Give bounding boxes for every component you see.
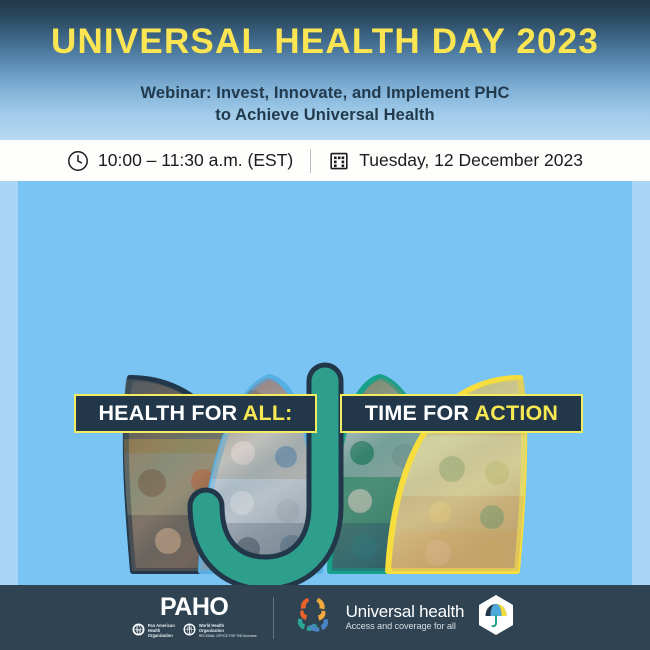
paho-org1-text: Pan American Health Organization: [148, 624, 175, 638]
paho-org1-line3: Organization: [148, 633, 173, 638]
universal-health-tagline: Access and coverage for all: [346, 621, 465, 632]
banner-left-highlight: ALL:: [243, 401, 293, 425]
paho-org-pan-american: Pan American Health Organization: [132, 623, 175, 641]
page-subtitle: Webinar: Invest, Innovate, and Implement…: [0, 82, 650, 126]
hexagon-umbrella-icon: [474, 593, 518, 642]
clock-icon: [67, 150, 89, 172]
poster-footer: PAHO Pan American Health: [0, 585, 650, 650]
poster-header: UNIVERSAL HEALTH DAY 2023 Webinar: Inves…: [0, 0, 650, 140]
banner-right-plain: TIME FOR: [365, 401, 475, 425]
paho-org2-line2: Organization: [199, 628, 224, 633]
subtitle-line-2: to Achieve Universal Health: [0, 104, 650, 126]
banner-left-text: HEALTH FOR ALL:: [98, 401, 292, 426]
poster-body: HEALTH FOR ALL: TIME FOR ACTION: [0, 181, 650, 585]
banner-health-for-all: HEALTH FOR ALL:: [74, 394, 317, 433]
event-time-group: 10:00 – 11:30 a.m. (EST): [67, 150, 293, 172]
event-time-text: 10:00 – 11:30 a.m. (EST): [98, 150, 293, 171]
event-date-group: Tuesday, 12 December 2023: [328, 150, 583, 172]
universal-health-title: Universal health: [346, 603, 465, 621]
calendar-icon: [328, 150, 350, 172]
umbrella-illustration: [0, 181, 650, 585]
banner-right-highlight: ACTION: [475, 401, 559, 425]
banner-left-plain: HEALTH FOR: [98, 401, 242, 425]
banner-right-text: TIME FOR ACTION: [365, 401, 558, 426]
pinwheel-icon: [290, 592, 336, 643]
subtitle-line-1: Webinar: Invest, Innovate, and Implement…: [0, 82, 650, 104]
banner-time-for-action: TIME FOR ACTION: [340, 394, 583, 433]
event-info-bar: 10:00 – 11:30 a.m. (EST) Tuesday, 12 Dec…: [0, 140, 650, 181]
page-title: UNIVERSAL HEALTH DAY 2023: [0, 20, 650, 64]
paho-globe-icon: [132, 623, 145, 641]
paho-logo: PAHO Pan American Health: [132, 595, 257, 641]
universal-health-wordmark: Universal health Access and coverage for…: [346, 603, 465, 632]
paho-acronym: PAHO: [160, 595, 228, 620]
event-date-text: Tuesday, 12 December 2023: [359, 150, 583, 171]
footer-divider: [273, 597, 274, 639]
poster-root: UNIVERSAL HEALTH DAY 2023 Webinar: Inves…: [0, 0, 650, 650]
paho-org-world-health: World Health Organization REGIONAL OFFIC…: [183, 623, 257, 641]
universal-health-logo: Universal health Access and coverage for…: [290, 592, 519, 643]
paho-org2-line3: REGIONAL OFFICE FOR THE Americas: [199, 634, 257, 639]
who-emblem-icon: [183, 623, 196, 641]
info-divider: [310, 149, 311, 173]
paho-org2-text: World Health Organization REGIONAL OFFIC…: [199, 624, 257, 638]
paho-organizations: Pan American Health Organization: [132, 623, 257, 641]
